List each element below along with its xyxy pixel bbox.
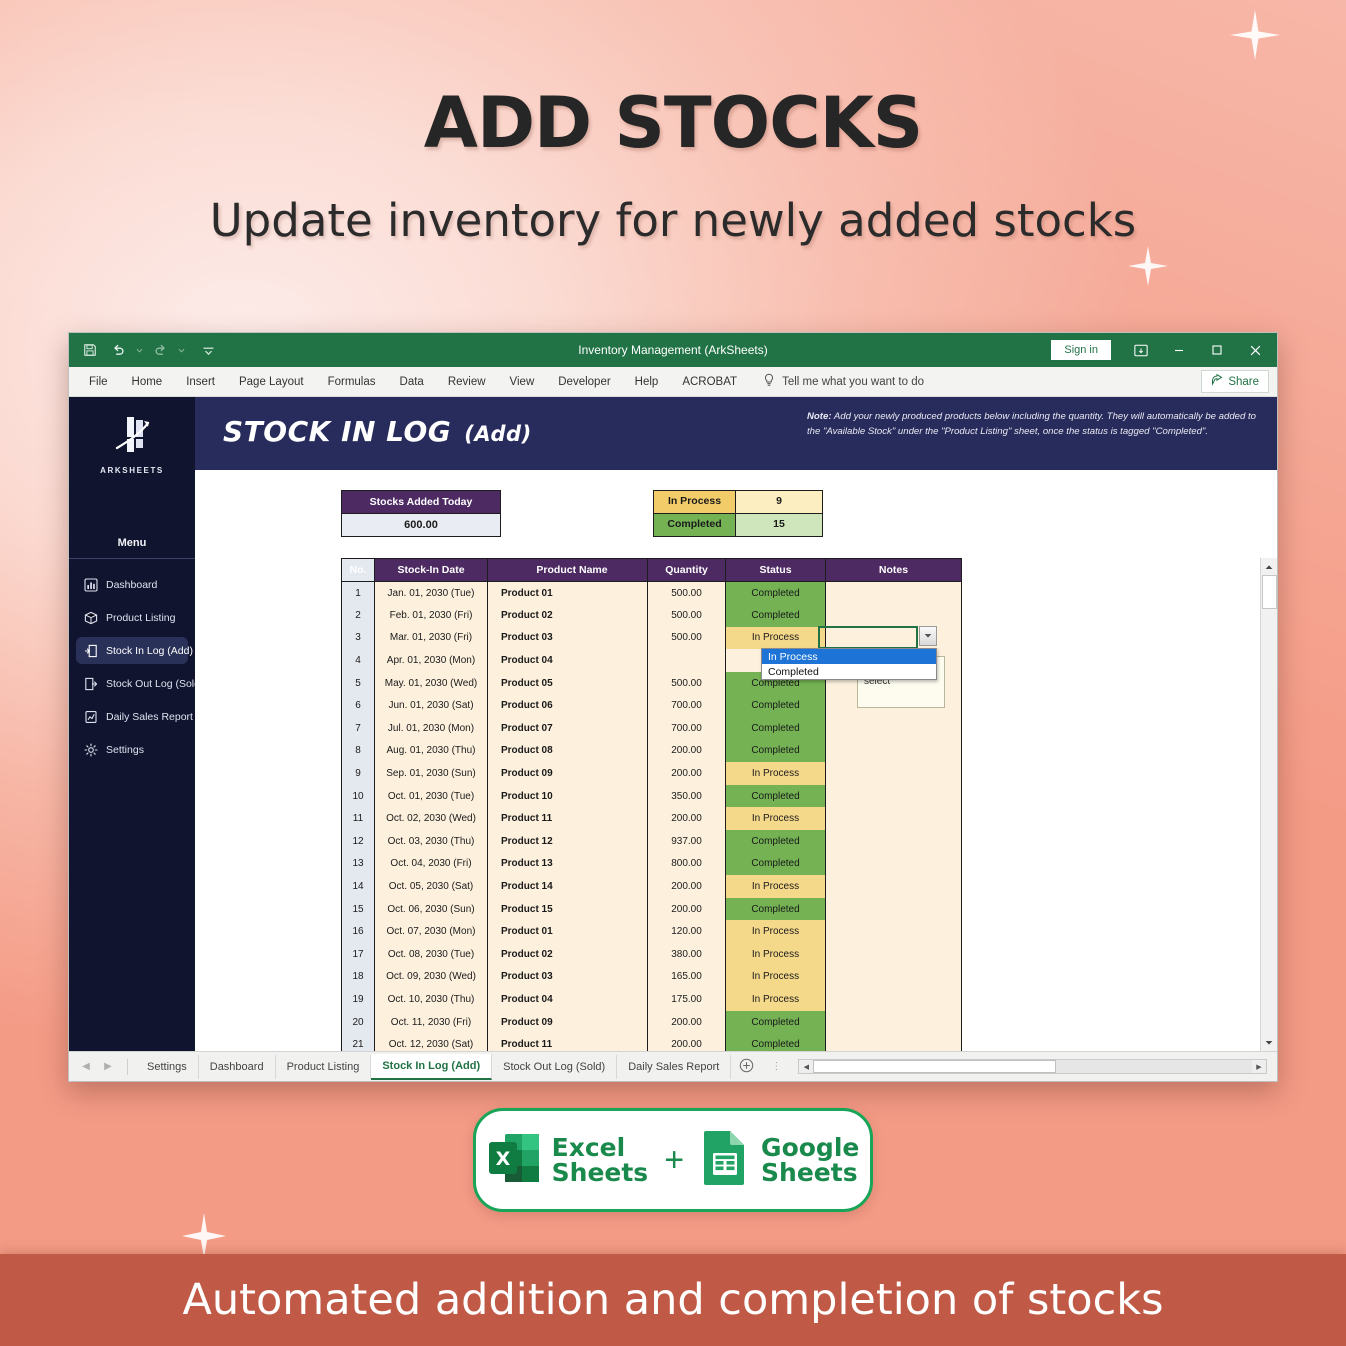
cell-no[interactable]: 8: [342, 740, 375, 763]
cell-stock-in-date[interactable]: Oct. 06, 2030 (Sun): [375, 898, 488, 921]
excel-label-line2: Sheets: [552, 1158, 649, 1187]
stocks-added-today-card: Stocks Added Today 600.00: [341, 490, 501, 537]
stocks-added-today-value: 600.00: [342, 514, 500, 536]
completed-label: Completed: [654, 514, 736, 536]
scroll-right-icon[interactable]: ▶: [1252, 1060, 1266, 1073]
save-icon[interactable]: [79, 339, 101, 361]
share-icon: [1211, 374, 1223, 389]
cell-notes[interactable]: [826, 627, 962, 650]
cell-no[interactable]: 17: [342, 943, 375, 966]
app-sidebar: ARKSHEETS Menu Dashboard Product Listing: [69, 397, 195, 1051]
cell-product-name[interactable]: Product 01: [488, 582, 648, 605]
page-title: ADD STOCKS: [0, 82, 1346, 164]
cell-product-name[interactable]: Product 15: [488, 898, 648, 921]
cell-notes[interactable]: [826, 717, 962, 740]
lightbulb-icon: [763, 373, 775, 390]
table-row[interactable]: 12Oct. 03, 2030 (Thu)Product 12937.00Com…: [342, 830, 962, 853]
ribbon-display-options-icon[interactable]: [1123, 334, 1159, 366]
cell-no[interactable]: 2: [342, 604, 375, 627]
cell-no[interactable]: 5: [342, 672, 375, 695]
cell-stock-in-date[interactable]: Oct. 03, 2030 (Thu): [375, 830, 488, 853]
stock-in-icon: [83, 643, 98, 658]
cell-notes[interactable]: [826, 582, 962, 605]
cell-stock-in-date[interactable]: Oct. 09, 2030 (Wed): [375, 966, 488, 989]
sheet-overflow-icon[interactable]: ⋮: [771, 1061, 782, 1072]
cell-status[interactable]: Completed: [726, 1033, 826, 1051]
cell-notes[interactable]: [826, 1011, 962, 1034]
stock-out-icon: [83, 676, 98, 691]
cell-stock-in-date[interactable]: Oct. 07, 2030 (Mon): [375, 920, 488, 943]
dropdown-option-completed[interactable]: Completed: [762, 664, 936, 679]
google-sheets-label: Google Sheets: [761, 1135, 859, 1186]
workbook-body: ARKSHEETS Menu Dashboard Product Listing: [69, 397, 1277, 1051]
cell-product-name[interactable]: Product 09: [488, 762, 648, 785]
cell-status[interactable]: In Process: [726, 988, 826, 1011]
cell-no[interactable]: 7: [342, 717, 375, 740]
table-row[interactable]: 9Sep. 01, 2030 (Sun)Product 09200.00In P…: [342, 762, 962, 785]
cell-notes[interactable]: [826, 943, 962, 966]
excel-label: Excel Sheets: [552, 1135, 649, 1186]
undo-icon[interactable]: [107, 339, 129, 361]
cell-status[interactable]: Completed: [726, 785, 826, 808]
note-label: Note:: [807, 411, 832, 422]
cell-quantity[interactable]: [648, 649, 726, 672]
ribbon-tab-home[interactable]: Home: [120, 370, 175, 394]
plus-separator: +: [664, 1141, 684, 1180]
horizontal-scroll-thumb[interactable]: [813, 1060, 1056, 1073]
cell-status[interactable]: In Process: [726, 943, 826, 966]
cell-no[interactable]: 21: [342, 1033, 375, 1051]
column-header-date[interactable]: Stock-In Date: [375, 559, 488, 582]
compatibility-badge: X Excel Sheets + Google Sheets: [473, 1108, 873, 1212]
cell-quantity[interactable]: 165.00: [648, 966, 726, 989]
cell-status[interactable]: Completed: [726, 604, 826, 627]
status-summary-card: In Process 9 Completed 15: [653, 490, 823, 537]
cell-status[interactable]: In Process: [726, 762, 826, 785]
excel-icon: X: [487, 1130, 541, 1191]
sidebar-item-label: Daily Sales Report: [106, 711, 193, 723]
ribbon-tab-bar: File Home Insert Page Layout Formulas Da…: [69, 367, 1277, 397]
tell-me-label: Tell me what you want to do: [782, 376, 924, 388]
cell-no[interactable]: 9: [342, 762, 375, 785]
table-row[interactable]: 8Aug. 01, 2030 (Thu)Product 08200.00Comp…: [342, 740, 962, 763]
cell-no[interactable]: 16: [342, 920, 375, 943]
sheet-title: STOCK IN LOG: [223, 415, 451, 448]
cell-status[interactable]: Completed: [726, 694, 826, 717]
cell-stock-in-date[interactable]: Jun. 01, 2030 (Sat): [375, 694, 488, 717]
ribbon-tab-page-layout[interactable]: Page Layout: [227, 370, 316, 394]
cell-product-name[interactable]: Product 09: [488, 1011, 648, 1034]
google-label-line2: Sheets: [761, 1158, 858, 1187]
sheet-tab-bar: ◀ ▶ Settings Dashboard Product Listing S…: [69, 1051, 1277, 1081]
cell-status[interactable]: In Process: [726, 807, 826, 830]
cell-no[interactable]: 18: [342, 966, 375, 989]
sidebar-item-settings[interactable]: Settings: [76, 736, 188, 763]
ribbon-tab-developer[interactable]: Developer: [546, 370, 622, 394]
menu-heading: Menu: [69, 537, 195, 559]
table-row[interactable]: 14Oct. 05, 2030 (Sat)Product 14200.00In …: [342, 875, 962, 898]
sheet-title-block: STOCK IN LOG (Add): [195, 397, 532, 448]
ribbon-tab-view[interactable]: View: [498, 370, 547, 394]
cell-quantity[interactable]: 200.00: [648, 740, 726, 763]
cell-quantity[interactable]: 700.00: [648, 717, 726, 740]
table-row[interactable]: 2Feb. 01, 2030 (Fri)Product 02500.00Comp…: [342, 604, 962, 627]
redo-dropdown-icon[interactable]: [177, 339, 185, 361]
cell-product-name[interactable]: Product 06: [488, 694, 648, 717]
brand-name: ARKSHEETS: [69, 466, 195, 475]
cell-notes[interactable]: [826, 988, 962, 1011]
cell-no[interactable]: 15: [342, 898, 375, 921]
cell-stock-in-date[interactable]: Apr. 01, 2030 (Mon): [375, 649, 488, 672]
sidebar-item-label: Stock Out Log (Sold): [106, 678, 203, 690]
cell-no[interactable]: 12: [342, 830, 375, 853]
cell-product-name[interactable]: Product 13: [488, 853, 648, 876]
cell-product-name[interactable]: Product 14: [488, 875, 648, 898]
table-row[interactable]: 13Oct. 04, 2030 (Fri)Product 13800.00Com…: [342, 853, 962, 876]
add-sheet-icon[interactable]: [731, 1058, 761, 1076]
cell-status[interactable]: In Process: [726, 966, 826, 989]
cell-status[interactable]: Completed: [726, 898, 826, 921]
note-text: Add your newly produced products below i…: [807, 411, 1256, 437]
cell-quantity[interactable]: 175.00: [648, 988, 726, 1011]
cell-status[interactable]: Completed: [726, 830, 826, 853]
redo-icon[interactable]: [149, 339, 171, 361]
cell-product-name[interactable]: Product 02: [488, 943, 648, 966]
sheet-banner: STOCK IN LOG (Add) Note: Add your newly …: [195, 397, 1277, 470]
cell-stock-in-date[interactable]: Aug. 01, 2030 (Thu): [375, 740, 488, 763]
column-header-notes[interactable]: Notes: [826, 559, 962, 582]
table-row[interactable]: 1Jan. 01, 2030 (Tue)Product 01500.00Comp…: [342, 582, 962, 605]
cell-notes[interactable]: [826, 604, 962, 627]
cell-product-name[interactable]: Product 01: [488, 920, 648, 943]
sidebar-item-stock-in-log[interactable]: Stock In Log (Add): [76, 637, 188, 664]
cell-notes[interactable]: [826, 830, 962, 853]
sidebar-item-dashboard[interactable]: Dashboard: [76, 571, 188, 598]
column-header-quantity[interactable]: Quantity: [648, 559, 726, 582]
data-validation-dropdown-arrow[interactable]: [919, 626, 937, 646]
table-row[interactable]: 19Oct. 10, 2030 (Thu)Product 04175.00In …: [342, 988, 962, 1011]
cell-status[interactable]: Completed: [726, 1011, 826, 1034]
cell-no[interactable]: 13: [342, 853, 375, 876]
cell-stock-in-date[interactable]: Jul. 01, 2030 (Mon): [375, 717, 488, 740]
divider: [127, 1059, 128, 1075]
cell-stock-in-date[interactable]: Oct. 11, 2030 (Fri): [375, 1011, 488, 1034]
cell-no[interactable]: 6: [342, 694, 375, 717]
cell-stock-in-date[interactable]: Oct. 02, 2030 (Wed): [375, 807, 488, 830]
cell-notes[interactable]: [826, 762, 962, 785]
cell-notes[interactable]: [826, 740, 962, 763]
sheet-tab-dashboard[interactable]: Dashboard: [199, 1055, 276, 1079]
stocks-added-today-label: Stocks Added Today: [342, 491, 500, 514]
cell-quantity[interactable]: 500.00: [648, 582, 726, 605]
cell-quantity[interactable]: 700.00: [648, 694, 726, 717]
ribbon-tab-formulas[interactable]: Formulas: [316, 370, 388, 394]
sheet-tab-daily-sales-report[interactable]: Daily Sales Report: [617, 1055, 731, 1079]
ribbon-tab-review[interactable]: Review: [436, 370, 498, 394]
table-row[interactable]: 18Oct. 09, 2030 (Wed)Product 03165.00In …: [342, 966, 962, 989]
cell-notes[interactable]: [826, 898, 962, 921]
table-row[interactable]: 16Oct. 07, 2030 (Mon)Product 01120.00In …: [342, 920, 962, 943]
completed-count: 15: [736, 514, 822, 536]
table-row[interactable]: 3Mar. 01, 2030 (Fri)Product 03500.00In P…: [342, 627, 962, 650]
cell-product-name[interactable]: Product 03: [488, 627, 648, 650]
cell-stock-in-date[interactable]: Feb. 01, 2030 (Fri): [375, 604, 488, 627]
table-row[interactable]: 21Oct. 12, 2030 (Sat)Product 11200.00Com…: [342, 1033, 962, 1051]
data-validation-dropdown-list[interactable]: In Process Completed: [761, 648, 937, 680]
column-header-product[interactable]: Product Name: [488, 559, 648, 582]
table-row[interactable]: 7Jul. 01, 2030 (Mon)Product 07700.00Comp…: [342, 717, 962, 740]
cell-stock-in-date[interactable]: May. 01, 2030 (Wed): [375, 672, 488, 695]
sidebar-item-label: Stock In Log (Add): [106, 645, 193, 657]
cell-quantity[interactable]: 200.00: [648, 898, 726, 921]
cell-product-name[interactable]: Product 11: [488, 1033, 648, 1051]
google-sheets-badge: Google Sheets: [700, 1129, 859, 1192]
stock-table-wrapper: No. Stock-In Date Product Name Quantity …: [341, 558, 1277, 1051]
bottom-banner: Automated addition and completion of sto…: [0, 1254, 1346, 1346]
cell-stock-in-date[interactable]: Mar. 01, 2030 (Fri): [375, 627, 488, 650]
quick-access-toolbar: [79, 339, 219, 361]
horizontal-scrollbar[interactable]: ◀ ▶: [798, 1059, 1267, 1074]
table-row[interactable]: 20Oct. 11, 2030 (Fri)Product 09200.00Com…: [342, 1011, 962, 1034]
chart-icon: [83, 577, 98, 592]
sheet-tab-stock-in-log[interactable]: Stock In Log (Add): [371, 1054, 492, 1080]
page-subtitle: Update inventory for newly added stocks: [0, 194, 1346, 247]
maximize-button[interactable]: [1199, 334, 1235, 366]
excel-window: Inventory Management (ArkSheets) Sign in…: [68, 332, 1278, 1082]
cell-no[interactable]: 11: [342, 807, 375, 830]
customize-qat-icon[interactable]: [197, 339, 219, 361]
cell-stock-in-date[interactable]: Oct. 08, 2030 (Tue): [375, 943, 488, 966]
next-sheet-icon[interactable]: ▶: [97, 1061, 119, 1072]
ribbon-tab-data[interactable]: Data: [388, 370, 436, 394]
cell-notes[interactable]: [826, 785, 962, 808]
cell-no[interactable]: 19: [342, 988, 375, 1011]
cell-no[interactable]: 3: [342, 627, 375, 650]
table-row[interactable]: 11Oct. 02, 2030 (Wed)Product 11200.00In …: [342, 807, 962, 830]
stock-table: No. Stock-In Date Product Name Quantity …: [341, 558, 962, 1051]
cell-quantity[interactable]: 200.00: [648, 807, 726, 830]
cell-stock-in-date[interactable]: Oct. 05, 2030 (Sat): [375, 875, 488, 898]
cell-notes[interactable]: [826, 966, 962, 989]
brand-block: ARKSHEETS: [69, 397, 195, 475]
cell-status[interactable]: Completed: [726, 740, 826, 763]
cell-product-name[interactable]: Product 08: [488, 740, 648, 763]
cell-status[interactable]: In Process: [726, 875, 826, 898]
sign-in-button[interactable]: Sign in: [1051, 340, 1111, 360]
cell-product-name[interactable]: Product 04: [488, 649, 648, 672]
table-header-row: No. Stock-In Date Product Name Quantity …: [342, 559, 962, 582]
ribbon-tab-acrobat[interactable]: ACROBAT: [670, 370, 749, 394]
cell-no[interactable]: 4: [342, 649, 375, 672]
cell-stock-in-date[interactable]: Jan. 01, 2030 (Tue): [375, 582, 488, 605]
kpi-row: Stocks Added Today 600.00 In Process 9 C…: [341, 490, 823, 537]
cell-stock-in-date[interactable]: Oct. 01, 2030 (Tue): [375, 785, 488, 808]
cell-notes[interactable]: [826, 807, 962, 830]
cell-no[interactable]: 10: [342, 785, 375, 808]
undo-dropdown-icon[interactable]: [135, 339, 143, 361]
report-icon: [83, 709, 98, 724]
cell-status[interactable]: Completed: [726, 717, 826, 740]
sheet-tab-settings[interactable]: Settings: [136, 1055, 199, 1079]
cell-quantity[interactable]: 200.00: [648, 1011, 726, 1034]
cell-quantity[interactable]: 380.00: [648, 943, 726, 966]
cell-no[interactable]: 20: [342, 1011, 375, 1034]
sidebar-item-label: Dashboard: [106, 579, 157, 591]
status-summary-row: Completed 15: [654, 514, 822, 536]
cell-quantity[interactable]: 120.00: [648, 920, 726, 943]
cell-product-name[interactable]: Product 10: [488, 785, 648, 808]
cell-quantity[interactable]: 800.00: [648, 853, 726, 876]
dropdown-option-in-process[interactable]: In Process: [762, 649, 936, 664]
cell-quantity[interactable]: 350.00: [648, 785, 726, 808]
sidebar-item-daily-sales-report[interactable]: Daily Sales Report: [76, 703, 188, 730]
cell-quantity[interactable]: 200.00: [648, 875, 726, 898]
cell-quantity[interactable]: 200.00: [648, 762, 726, 785]
sheet-tab-product-listing[interactable]: Product Listing: [276, 1055, 372, 1079]
cell-quantity[interactable]: 200.00: [648, 1033, 726, 1051]
cell-product-name[interactable]: Product 04: [488, 988, 648, 1011]
table-row[interactable]: 17Oct. 08, 2030 (Tue)Product 02380.00In …: [342, 943, 962, 966]
sidebar-item-product-listing[interactable]: Product Listing: [76, 604, 188, 631]
vertical-scrollbar[interactable]: [1260, 558, 1277, 1051]
cell-quantity[interactable]: 500.00: [648, 627, 726, 650]
arksheets-logo-icon: [110, 415, 154, 457]
status-summary-row: In Process 9: [654, 491, 822, 514]
column-header-status[interactable]: Status: [726, 559, 826, 582]
cell-product-name[interactable]: Product 11: [488, 807, 648, 830]
minimize-button[interactable]: [1161, 334, 1197, 366]
cell-notes[interactable]: [826, 875, 962, 898]
vertical-scroll-thumb[interactable]: [1262, 575, 1277, 609]
cell-status[interactable]: Completed: [726, 582, 826, 605]
cell-notes[interactable]: [826, 920, 962, 943]
cell-notes[interactable]: [826, 1033, 962, 1051]
sidebar-item-label: Product Listing: [106, 612, 175, 624]
svg-text:X: X: [495, 1148, 510, 1170]
sheet-area: STOCK IN LOG (Add) Note: Add your newly …: [195, 397, 1277, 1051]
column-header-no[interactable]: No.: [342, 559, 375, 582]
window-controls: Sign in: [1051, 334, 1277, 366]
window-titlebar: Inventory Management (ArkSheets) Sign in: [69, 333, 1277, 367]
ribbon-tab-insert[interactable]: Insert: [174, 370, 227, 394]
cell-product-name[interactable]: Product 07: [488, 717, 648, 740]
sheet-canvas: Stocks Added Today 600.00 In Process 9 C…: [195, 470, 1277, 1051]
cell-product-name[interactable]: Product 12: [488, 830, 648, 853]
share-button[interactable]: Share: [1201, 370, 1269, 393]
in-process-count: 9: [736, 491, 822, 514]
sheet-note: Note: Add your newly produced products b…: [807, 397, 1277, 439]
cell-no[interactable]: 14: [342, 875, 375, 898]
table-row[interactable]: 15Oct. 06, 2030 (Sun)Product 15200.00Com…: [342, 898, 962, 921]
excel-badge: X Excel Sheets: [487, 1130, 649, 1191]
cell-stock-in-date[interactable]: Oct. 04, 2030 (Fri): [375, 853, 488, 876]
poster-title-block: ADD STOCKS Update inventory for newly ad…: [0, 82, 1346, 247]
ribbon-tab-file[interactable]: File: [77, 370, 120, 394]
cell-quantity[interactable]: 500.00: [648, 604, 726, 627]
cell-status[interactable]: In Process: [726, 627, 826, 650]
cell-status[interactable]: Completed: [726, 853, 826, 876]
cell-status[interactable]: In Process: [726, 920, 826, 943]
cell-stock-in-date[interactable]: Oct. 12, 2030 (Sat): [375, 1033, 488, 1051]
cell-quantity[interactable]: 500.00: [648, 672, 726, 695]
box-icon: [83, 610, 98, 625]
sheet-tab-stock-out-log[interactable]: Stock Out Log (Sold): [492, 1055, 617, 1079]
cell-product-name[interactable]: Product 05: [488, 672, 648, 695]
scroll-up-icon[interactable]: [1261, 558, 1278, 575]
in-process-label: In Process: [654, 491, 736, 514]
cell-product-name[interactable]: Product 03: [488, 966, 648, 989]
sheet-title-suffix: (Add): [464, 422, 531, 446]
share-label: Share: [1228, 376, 1259, 388]
cell-no[interactable]: 1: [342, 582, 375, 605]
cell-product-name[interactable]: Product 02: [488, 604, 648, 627]
sidebar-item-stock-out-log[interactable]: Stock Out Log (Sold): [76, 670, 188, 697]
cell-quantity[interactable]: 937.00: [648, 830, 726, 853]
scroll-down-icon[interactable]: [1261, 1034, 1278, 1051]
gear-icon: [83, 742, 98, 757]
previous-sheet-icon[interactable]: ◀: [75, 1061, 97, 1072]
close-button[interactable]: [1237, 334, 1273, 366]
sidebar-item-label: Settings: [106, 744, 144, 756]
scroll-left-icon[interactable]: ◀: [799, 1060, 813, 1073]
ribbon-tab-help[interactable]: Help: [623, 370, 671, 394]
sidebar-menu: Dashboard Product Listing Stock In Log (…: [69, 559, 195, 769]
tell-me-search[interactable]: Tell me what you want to do: [763, 373, 924, 390]
table-row[interactable]: 10Oct. 01, 2030 (Tue)Product 10350.00Com…: [342, 785, 962, 808]
cell-notes[interactable]: [826, 853, 962, 876]
google-sheets-icon: [700, 1129, 750, 1192]
bottom-banner-text: Automated addition and completion of sto…: [182, 1275, 1163, 1325]
cell-stock-in-date[interactable]: Oct. 10, 2030 (Thu): [375, 988, 488, 1011]
cell-stock-in-date[interactable]: Sep. 01, 2030 (Sun): [375, 762, 488, 785]
